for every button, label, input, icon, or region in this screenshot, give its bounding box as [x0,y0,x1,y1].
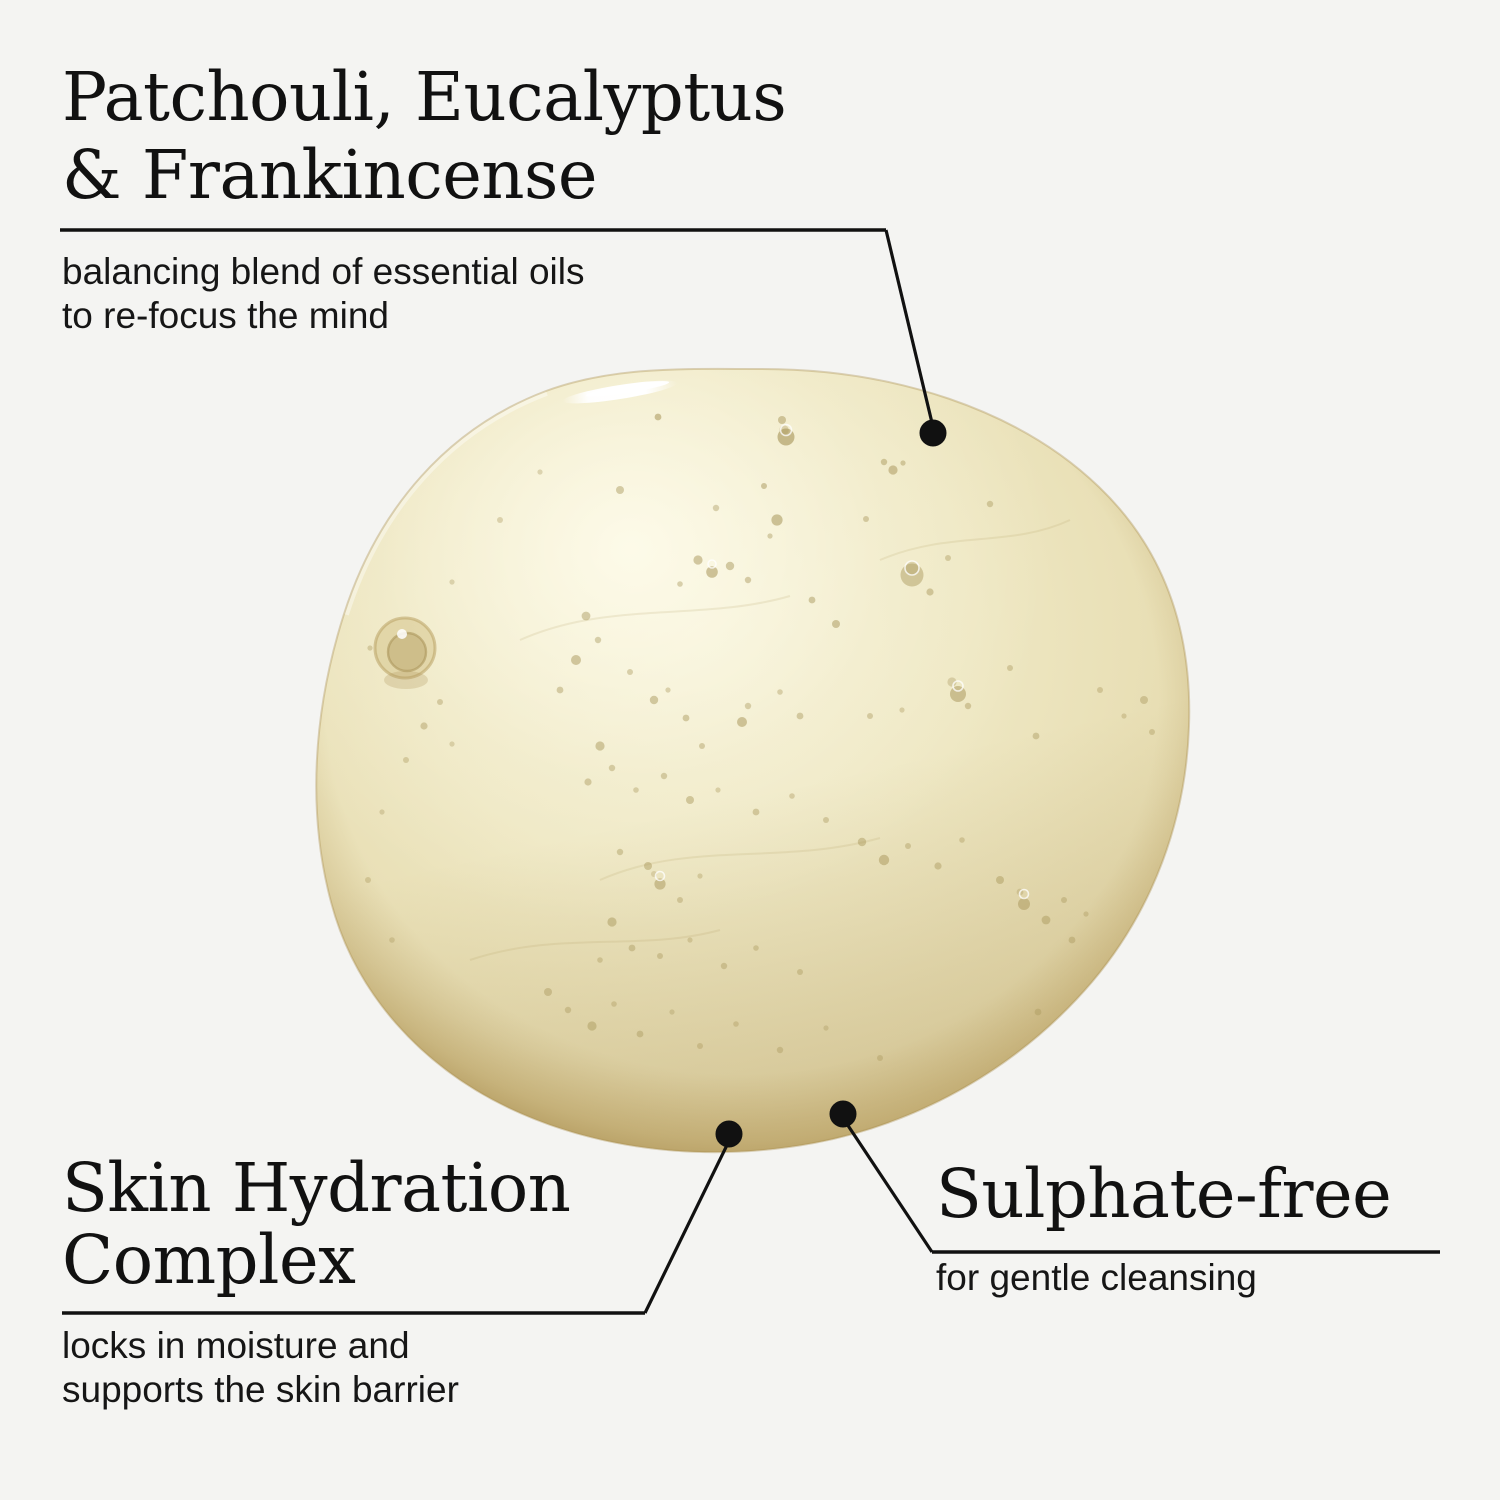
callout-hydration-subtitle: locks in moisture and supports the skin … [62,1324,702,1412]
callout-sulphate-free-subtitle: for gentle cleansing [936,1256,1456,1300]
gel-blob [300,350,1220,1180]
product-benefits-infographic: Patchouli, Eucalyptus & Frankincense bal… [0,0,1500,1500]
callout-aroma-subtitle: balancing blend of essential oils to re-… [62,250,962,338]
callout-aroma-title: Patchouli, Eucalyptus & Frankincense [62,58,962,214]
callout-hydration: Skin Hydration Complex locks in moisture… [62,1152,702,1412]
callout-aroma: Patchouli, Eucalyptus & Frankincense bal… [62,58,962,338]
callout-sulphate-free-title: Sulphate-free [936,1158,1456,1230]
callout-sulphate-free: Sulphate-free for gentle cleansing [936,1158,1456,1300]
callout-hydration-title: Skin Hydration Complex [62,1152,702,1296]
